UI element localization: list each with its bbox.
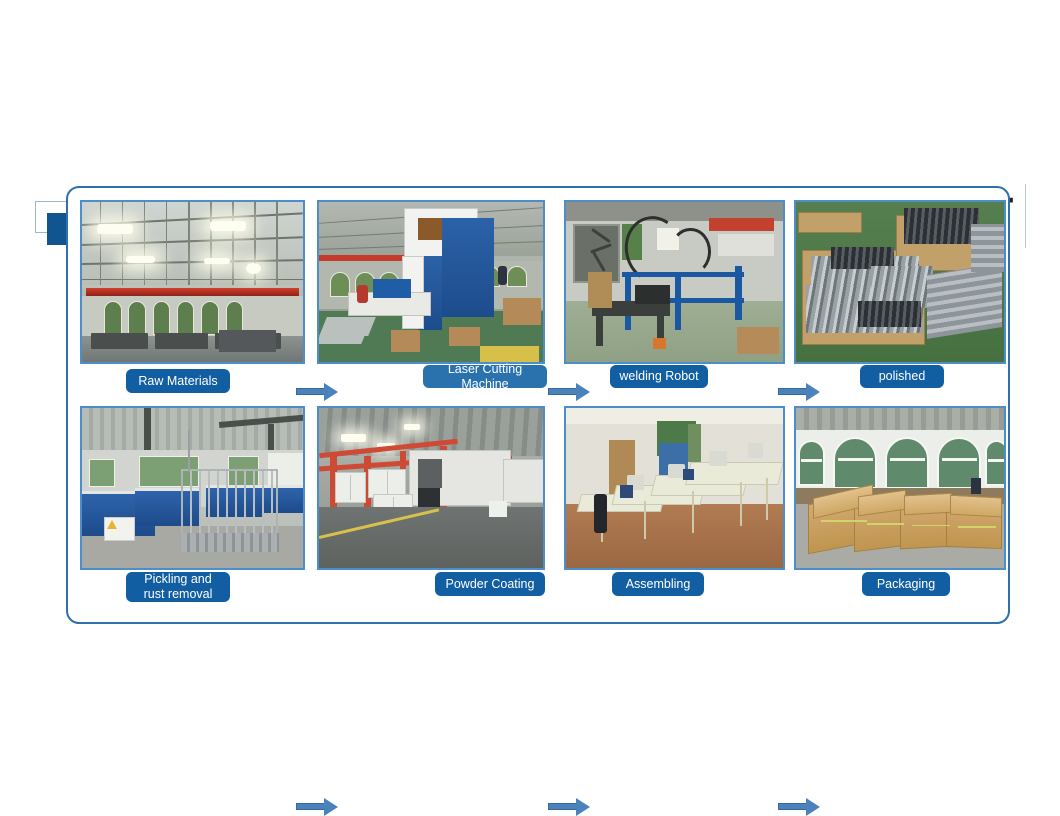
scene-packaging-warehouse	[796, 408, 1004, 568]
scene-polished-metal-parts	[796, 202, 1004, 362]
workflow-arrow-5	[548, 798, 596, 816]
step-label-8[interactable]: Packaging	[862, 572, 950, 596]
scene-laser-cutting-machine	[319, 202, 543, 362]
step-label-1[interactable]: Raw Materials	[126, 369, 230, 393]
workflow-arrow-4	[296, 798, 344, 816]
workflow-step-1[interactable]: Raw Materials	[76, 194, 306, 400]
scene-factory-warehouse-interior	[82, 202, 303, 362]
workflow-step-2[interactable]: Laser Cutting Machine	[313, 194, 548, 400]
workflow-arrow-6	[778, 798, 826, 816]
workflow-step-7[interactable]: Assembling	[560, 400, 788, 606]
slide-header: Production Workflow Chart TOPMOST	[0, 88, 1060, 164]
workflow-step-6[interactable]: Powder Coating	[313, 400, 548, 606]
brand-divider	[1025, 184, 1026, 248]
step-label-3[interactable]: welding Robot	[610, 365, 708, 388]
workflow-step-3[interactable]: welding Robot	[560, 194, 788, 400]
workflow-chart-frame: Raw Materials	[66, 186, 1010, 624]
photo-powder-coating	[317, 406, 545, 570]
workflow-step-5[interactable]: Pickling and rust removal	[76, 400, 306, 606]
workflow-step-4[interactable]: polished	[790, 194, 1008, 400]
scene-assembly-workshop	[566, 408, 783, 568]
slide-canvas: Production Workflow Chart TOPMOST	[0, 0, 1060, 762]
scene-powder-coating-line	[319, 408, 543, 568]
photo-raw-materials	[80, 200, 305, 364]
step-label-6[interactable]: Powder Coating	[435, 572, 545, 596]
step-label-2[interactable]: Laser Cutting Machine	[423, 365, 547, 388]
photo-welding-robot	[564, 200, 785, 364]
workflow-row-2: Pickling and rust removal	[68, 400, 1012, 606]
photo-laser-cutting-machine	[317, 200, 545, 364]
photo-pickling-and-rust-removal	[80, 406, 305, 570]
photo-assembling	[564, 406, 785, 570]
step-label-4[interactable]: polished	[860, 365, 944, 388]
photo-polished	[794, 200, 1006, 364]
step-label-7[interactable]: Assembling	[612, 572, 704, 596]
step-label-5[interactable]: Pickling and rust removal	[126, 572, 230, 602]
workflow-row-1: Raw Materials	[68, 194, 1012, 400]
scene-pickling-tanks	[82, 408, 303, 568]
photo-packaging	[794, 406, 1006, 570]
workflow-step-8[interactable]: Packaging	[790, 400, 1008, 606]
scene-welding-robot-cell	[566, 202, 783, 362]
